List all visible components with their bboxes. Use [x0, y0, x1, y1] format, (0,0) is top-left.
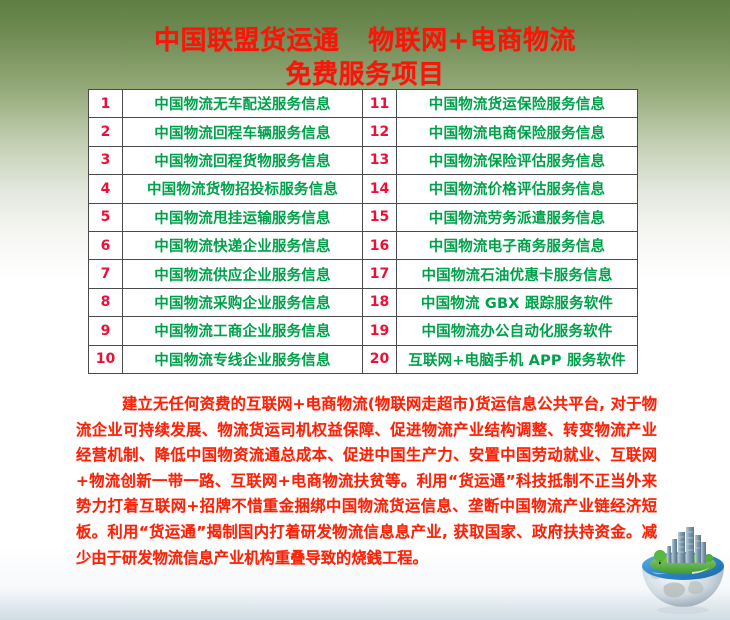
row-number-left: 5: [89, 203, 123, 231]
row-label-left[interactable]: 中国物流供应企业服务信息: [123, 260, 363, 288]
row-number-right: 16: [363, 231, 397, 259]
row-label-right[interactable]: 中国物流劳务派遣服务信息: [397, 203, 638, 231]
table-row: 8 中国物流采购企业服务信息 18 中国物流 GBX 跟踪服务软件: [89, 288, 638, 316]
row-number-right: 11: [363, 90, 397, 118]
row-number-right: 19: [363, 317, 397, 345]
row-label-left[interactable]: 中国物流回程车辆服务信息: [123, 118, 363, 146]
row-number-right: 20: [363, 345, 397, 373]
eco-globe-city-icon: [638, 524, 728, 618]
row-label-left[interactable]: 中国物流采购企业服务信息: [123, 288, 363, 316]
row-number-right: 17: [363, 260, 397, 288]
row-number-left: 10: [89, 345, 123, 373]
row-label-right[interactable]: 中国物流保险评估服务信息: [397, 146, 638, 174]
body-paragraph: 建立无任何资费的互联网+电商物流(物联网走超市)货运信息公共平台, 对于物流企业…: [76, 392, 657, 571]
table-row: 3 中国物流回程货物服务信息 13 中国物流保险评估服务信息: [89, 146, 638, 174]
row-number-right: 15: [363, 203, 397, 231]
row-label-left[interactable]: 中国物流无车配送服务信息: [123, 90, 363, 118]
row-label-right[interactable]: 中国物流电商保险服务信息: [397, 118, 638, 146]
table-row: 4 中国物流货物招投标服务信息 14 中国物流价格评估服务信息: [89, 175, 638, 203]
row-number-left: 3: [89, 146, 123, 174]
row-label-right[interactable]: 互联网+电脑手机 APP 服务软件: [397, 345, 638, 373]
row-label-right[interactable]: 中国物流电子商务服务信息: [397, 231, 638, 259]
table-row: 6 中国物流快递企业服务信息 16 中国物流电子商务服务信息: [89, 231, 638, 259]
page-title: 中国联盟货运通 物联网+电商物流 免费服务项目: [0, 24, 730, 92]
table-row: 1 中国物流无车配送服务信息 11 中国物流货运保险服务信息: [89, 90, 638, 118]
row-number-left: 6: [89, 231, 123, 259]
table-row: 5 中国物流甩挂运输服务信息 15 中国物流劳务派遣服务信息: [89, 203, 638, 231]
table-row: 7 中国物流供应企业服务信息 17 中国物流石油优惠卡服务信息: [89, 260, 638, 288]
row-label-left[interactable]: 中国物流甩挂运输服务信息: [123, 203, 363, 231]
row-label-right[interactable]: 中国物流价格评估服务信息: [397, 175, 638, 203]
table-row: 2 中国物流回程车辆服务信息 12 中国物流电商保险服务信息: [89, 118, 638, 146]
row-number-left: 2: [89, 118, 123, 146]
row-number-left: 9: [89, 317, 123, 345]
row-label-left[interactable]: 中国物流货物招投标服务信息: [123, 175, 363, 203]
title-line-1: 中国联盟货运通 物联网+电商物流: [0, 24, 730, 58]
row-number-right: 18: [363, 288, 397, 316]
row-number-right: 12: [363, 118, 397, 146]
row-label-left[interactable]: 中国物流专线企业服务信息: [123, 345, 363, 373]
table-row: 9 中国物流工商企业服务信息 19 中国物流办公自动化服务软件: [89, 317, 638, 345]
table-body: 1 中国物流无车配送服务信息 11 中国物流货运保险服务信息 2 中国物流回程车…: [89, 90, 638, 374]
row-label-right[interactable]: 中国物流货运保险服务信息: [397, 90, 638, 118]
service-items-table: 1 中国物流无车配送服务信息 11 中国物流货运保险服务信息 2 中国物流回程车…: [88, 89, 638, 374]
row-number-left: 7: [89, 260, 123, 288]
row-number-right: 14: [363, 175, 397, 203]
row-number-right: 13: [363, 146, 397, 174]
row-label-right[interactable]: 中国物流 GBX 跟踪服务软件: [397, 288, 638, 316]
row-label-left[interactable]: 中国物流回程货物服务信息: [123, 146, 363, 174]
row-number-left: 8: [89, 288, 123, 316]
row-label-right[interactable]: 中国物流办公自动化服务软件: [397, 317, 638, 345]
row-label-left[interactable]: 中国物流快递企业服务信息: [123, 231, 363, 259]
title-line-2: 免费服务项目: [0, 58, 730, 92]
slide-canvas: 中国联盟货运通 物联网+电商物流 免费服务项目 1 中国物流无车配送服务信息 1…: [0, 0, 730, 620]
row-label-left[interactable]: 中国物流工商企业服务信息: [123, 317, 363, 345]
row-label-right[interactable]: 中国物流石油优惠卡服务信息: [397, 260, 638, 288]
row-number-left: 1: [89, 90, 123, 118]
eco-globe-city-svg: [638, 524, 728, 618]
row-number-left: 4: [89, 175, 123, 203]
table-row: 10 中国物流专线企业服务信息 20 互联网+电脑手机 APP 服务软件: [89, 345, 638, 373]
